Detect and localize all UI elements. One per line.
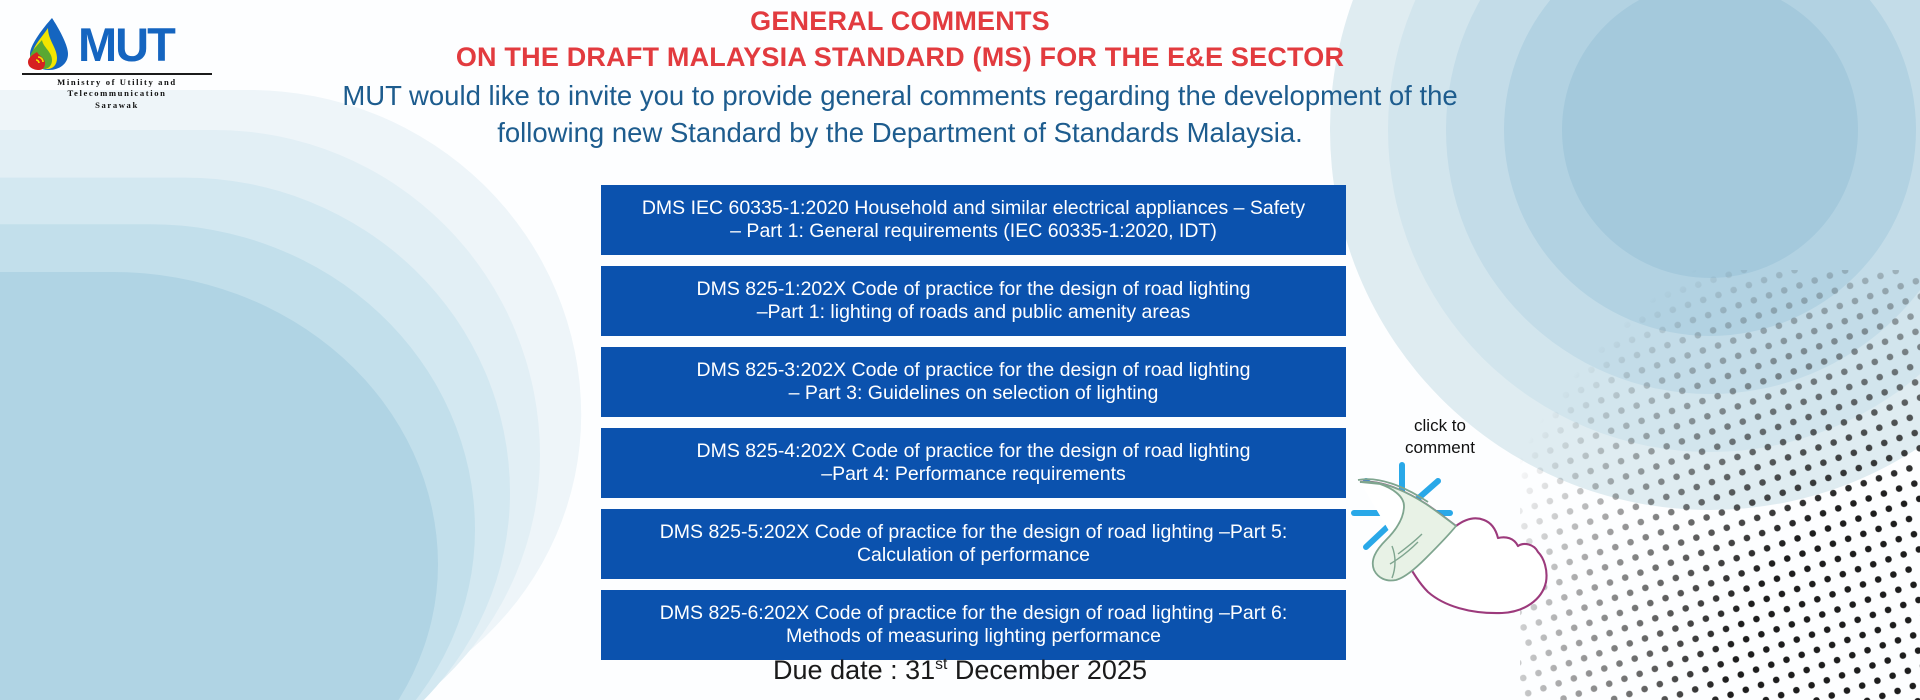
logo-wordmark: MUT [78, 21, 174, 68]
standard-box-6[interactable]: DMS 825-6:202X Code of practice for the … [601, 590, 1346, 660]
standard-box-6-line2: Methods of measuring lighting performanc… [611, 625, 1336, 648]
wave-layer-5 [0, 272, 438, 700]
standard-box-3-line1: DMS 825-3:202X Code of practice for the … [611, 359, 1336, 382]
mut-logo: MUT Ministry of Utility and Telecommunic… [22, 16, 212, 102]
standard-box-5-line1: DMS 825-5:202X Code of practice for the … [611, 521, 1336, 544]
wave-layer-3 [0, 178, 510, 700]
standard-box-4-line2: –Part 4: Performance requirements [611, 463, 1336, 486]
logo-subtitle-line3: Sarawak [22, 100, 212, 111]
pointing-hand-icon [1352, 460, 1582, 615]
logo-divider [22, 73, 212, 75]
standard-box-1-line2: – Part 1: General requirements (IEC 6033… [611, 220, 1336, 243]
page-subtitle-line2: following new Standard by the Department… [330, 116, 1470, 149]
logo-subtitle-line1: Ministry of Utility and [22, 77, 212, 88]
logo-subtitle: Ministry of Utility and Telecommunicatio… [22, 77, 212, 111]
standard-box-4[interactable]: DMS 825-4:202X Code of practice for the … [601, 428, 1346, 498]
wave-layer-2 [0, 130, 540, 700]
wave-layer-1 [0, 90, 581, 700]
arc-ring-4 [1504, 0, 1916, 336]
standard-box-2-line1: DMS 825-1:202X Code of practice for the … [611, 278, 1336, 301]
click-annotation-label-line1: click to [1380, 415, 1500, 437]
page-title-line1: GENERAL COMMENTS [330, 4, 1470, 40]
water-droplet-icon [22, 16, 76, 72]
standard-box-3[interactable]: DMS 825-3:202X Code of practice for the … [601, 347, 1346, 417]
wave-decoration [0, 120, 500, 700]
page-subtitle-line1: MUT would like to invite you to provide … [330, 79, 1470, 112]
wave-layer-4 [0, 224, 475, 700]
standard-box-4-line1: DMS 825-4:202X Code of practice for the … [611, 440, 1336, 463]
click-annotation-label: click to comment [1380, 415, 1500, 458]
standard-box-2[interactable]: DMS 825-1:202X Code of practice for the … [601, 266, 1346, 336]
standards-list: DMS IEC 60335-1:2020 Household and simil… [601, 185, 1346, 671]
page-title-line2: ON THE DRAFT MALAYSIA STANDARD (MS) FOR … [330, 40, 1470, 76]
standard-box-2-line2: –Part 1: lighting of roads and public am… [611, 301, 1336, 324]
due-date-suffix: December 2025 [947, 655, 1147, 685]
standard-box-3-line2: – Part 3: Guidelines on selection of lig… [611, 382, 1336, 405]
due-date-ordinal: st [935, 656, 947, 673]
due-date: Due date : 31st December 2025 [480, 655, 1440, 686]
logo-subtitle-line2: Telecommunication [22, 88, 212, 99]
logo-row: MUT [22, 16, 212, 72]
arc-ring-5 [1562, 0, 1858, 278]
click-annotation: click to comment [1372, 415, 1602, 615]
header-block: GENERAL COMMENTS ON THE DRAFT MALAYSIA S… [330, 4, 1470, 149]
standard-box-5-line2: Calculation of performance [611, 544, 1336, 567]
due-date-prefix: Due date : 31 [773, 655, 935, 685]
standard-box-5[interactable]: DMS 825-5:202X Code of practice for the … [601, 509, 1346, 579]
standard-box-1-line1: DMS IEC 60335-1:2020 Household and simil… [611, 197, 1336, 220]
standard-box-6-line1: DMS 825-6:202X Code of practice for the … [611, 602, 1336, 625]
standard-box-1[interactable]: DMS IEC 60335-1:2020 Household and simil… [601, 185, 1346, 255]
poster-canvas: MUT Ministry of Utility and Telecommunic… [0, 0, 1920, 700]
arc-ring-3 [1446, 0, 1920, 394]
